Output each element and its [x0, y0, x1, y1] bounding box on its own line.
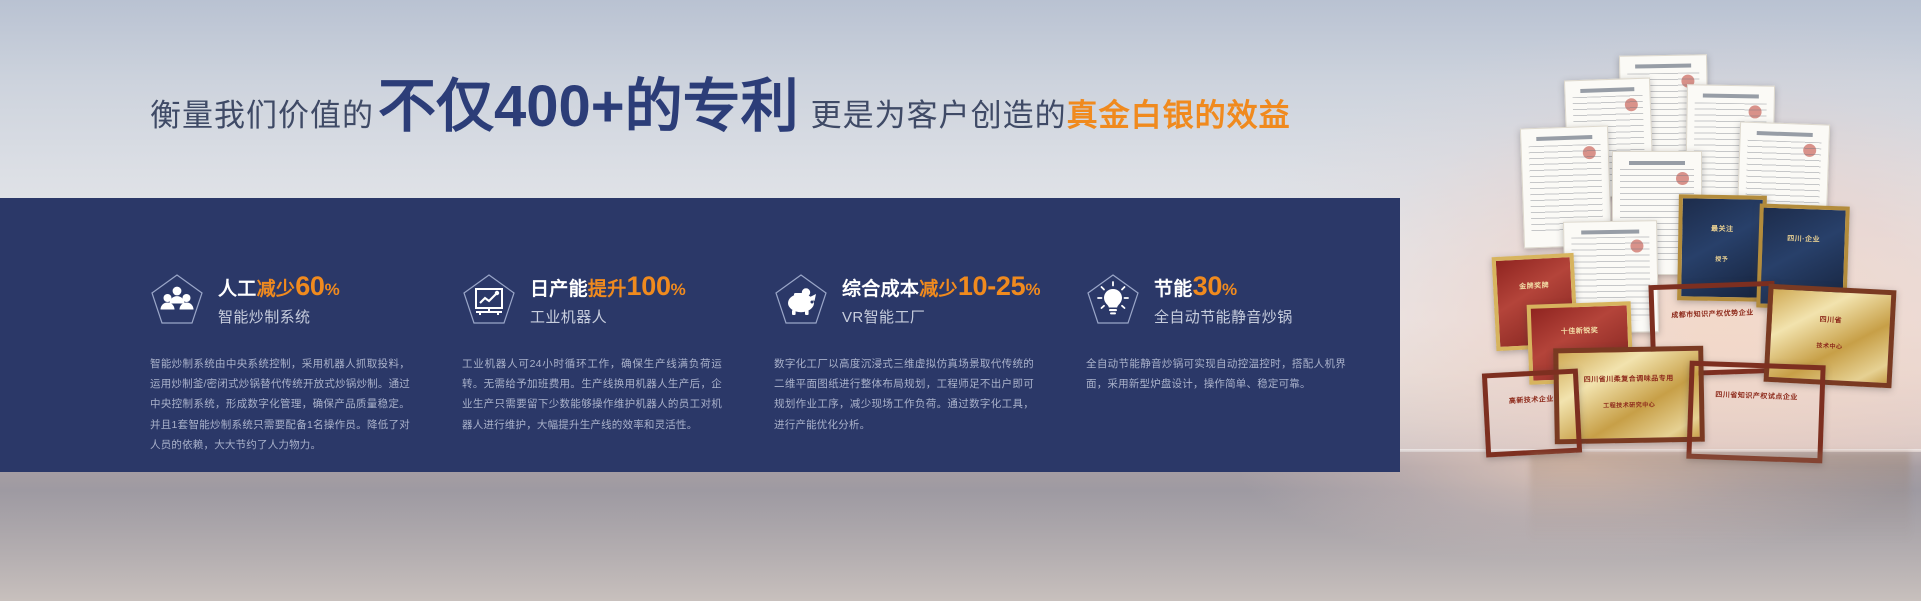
plaque-line-2: 技术中心 — [1770, 338, 1888, 353]
certificate-plaque: 高新技术企业 — [1482, 369, 1582, 458]
feature-title-label: 减少 — [257, 279, 296, 300]
plaque-line-1: 四川·企业 — [1762, 233, 1844, 246]
headline-lead: 衡量我们价值的 — [150, 90, 374, 135]
plaque-line-1: 十佳新锐奖 — [1531, 324, 1627, 337]
certificates-collage: 最关注 授予 四川·企业 金牌奖牌 成都市知识产权优势企业 四川省 技术中心 十… — [1470, 55, 1921, 475]
plaque-line-1: 成都市知识产权优势企业 — [1654, 307, 1770, 321]
certificate-plaque: 四川省知识产权试点企业 — [1686, 361, 1825, 464]
feature-subtitle: VR智能工厂 — [842, 309, 1041, 328]
feature-title-label: 提升 — [588, 279, 627, 300]
feature-title-number: 30 — [1193, 271, 1222, 301]
feature-title: 人工减少60% — [218, 270, 340, 304]
plaque-line-1: 四川省川柔复合调味品专用 — [1559, 373, 1699, 385]
feature-item-capacity: 日产能提升100% 工业机器人 工业机器人可24小时循环工作，确保生产线满负荷运… — [462, 198, 774, 472]
headline-middle: 更是为客户创造的 — [811, 90, 1067, 135]
feature-subtitle: 全自动节能静音炒锅 — [1154, 309, 1293, 328]
feature-title: 综合成本减少10-25% — [842, 270, 1041, 304]
headline-emphasis: 不仅400+的专利 — [378, 78, 799, 136]
feature-title-prefix: 日产能 — [530, 279, 588, 300]
feature-item-cost: 综合成本减少10-25% VR智能工厂 数字化工厂以高度沉浸式三维虚拟仿真场景取… — [774, 198, 1086, 472]
certificates-reflection — [1530, 452, 1910, 542]
chart-board-icon — [462, 273, 516, 325]
feature-title-number: 60 — [295, 271, 324, 301]
feature-title-prefix: 综合成本 — [842, 279, 919, 300]
feature-title-number: 10-25 — [958, 271, 1026, 301]
headline: 衡量我们价值的 不仅400+的专利 更是为客户创造的 真金白银的效益 — [150, 78, 1291, 146]
feature-description: 数字化工厂以高度沉浸式三维虚拟仿真场景取代传统的二维平面图纸进行整体布局规划，工… — [774, 354, 1034, 436]
feature-text: 综合成本减少10-25% VR智能工厂 — [842, 270, 1041, 328]
feature-header: 人工减少60% 智能炒制系统 — [150, 270, 410, 328]
feature-title-prefix: 节能 — [1154, 279, 1193, 300]
feature-title-label: 减少 — [919, 279, 958, 300]
feature-subtitle: 工业机器人 — [530, 309, 686, 328]
piggy-bank-icon — [774, 273, 828, 325]
feature-description: 工业机器人可24小时循环工作，确保生产线满负荷运转。无需给予加班费用。生产线换用… — [462, 354, 722, 436]
feature-item-labor: 人工减少60% 智能炒制系统 智能炒制系统由中央系统控制，采用机器人抓取投料，运… — [150, 198, 462, 472]
plaque-line-2: 授予 — [1682, 253, 1762, 263]
promo-banner: 衡量我们价值的 不仅400+的专利 更是为客户创造的 真金白银的效益 — [0, 0, 1921, 601]
feature-title-unit: % — [1222, 280, 1237, 299]
plaque-line-1: 四川省 — [1772, 312, 1890, 328]
plaque-line-2: 工程技术研究中心 — [1559, 399, 1699, 410]
feature-item-energy: 节能30% 全自动节能静音炒锅 全自动节能静音炒锅可实现自动控温控时，搭配人机界… — [1086, 198, 1398, 472]
feature-description: 智能炒制系统由中央系统控制，采用机器人抓取投料，运用炒制釜/密闭式炒锅替代传统开… — [150, 354, 410, 456]
feature-subtitle: 智能炒制系统 — [218, 309, 340, 328]
feature-title-number: 100 — [627, 271, 671, 301]
plaque-line-1: 高新技术企业 — [1488, 393, 1574, 407]
headline-accent: 真金白银的效益 — [1067, 90, 1291, 135]
feature-title-unit: % — [325, 280, 340, 299]
feature-title: 节能30% — [1154, 270, 1293, 304]
feature-title-unit: % — [671, 280, 686, 299]
people-group-icon — [150, 273, 204, 325]
feature-description: 全自动节能静音炒锅可实现自动控温控时，搭配人机界面，采用新型炉盘设计，操作简单、… — [1086, 354, 1346, 395]
feature-text: 节能30% 全自动节能静音炒锅 — [1154, 270, 1293, 328]
plaque-line-1: 金牌奖牌 — [1497, 279, 1571, 293]
feature-header: 日产能提升100% 工业机器人 — [462, 270, 722, 328]
feature-list: 人工减少60% 智能炒制系统 智能炒制系统由中央系统控制，采用机器人抓取投料，运… — [150, 198, 1400, 472]
lightbulb-icon — [1086, 273, 1140, 325]
feature-title-prefix: 人工 — [218, 279, 257, 300]
feature-title: 日产能提升100% — [530, 270, 686, 304]
plaque-line-1: 四川省知识产权试点企业 — [1693, 389, 1819, 403]
feature-header: 节能30% 全自动节能静音炒锅 — [1086, 270, 1346, 328]
feature-text: 日产能提升100% 工业机器人 — [530, 270, 686, 328]
feature-title-unit: % — [1025, 280, 1040, 299]
feature-text: 人工减少60% 智能炒制系统 — [218, 270, 340, 328]
plaque-line-1: 最关注 — [1682, 224, 1762, 235]
feature-header: 综合成本减少10-25% VR智能工厂 — [774, 270, 1034, 328]
